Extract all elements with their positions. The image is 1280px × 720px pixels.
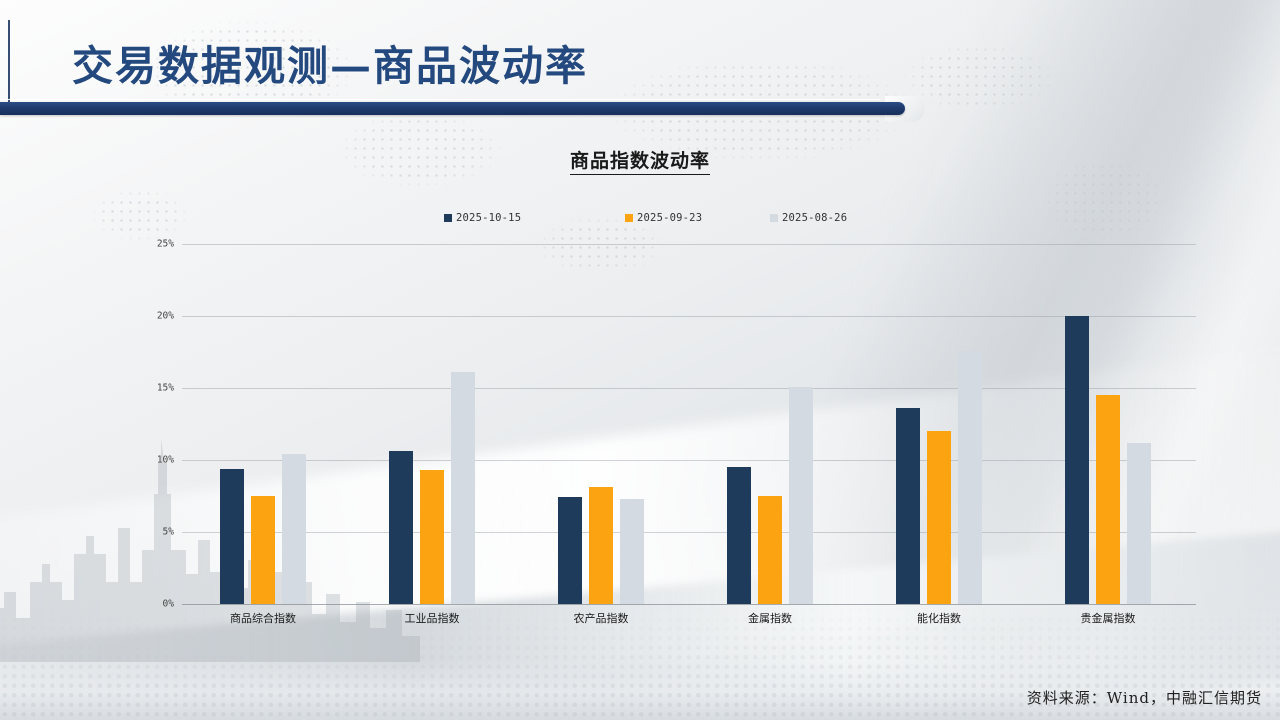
title-hairline xyxy=(0,99,880,100)
page-title: 交易数据观测—商品波动率 xyxy=(72,32,588,92)
legend-label-series-2: 2025-09-23 xyxy=(637,212,702,224)
y-axis-tick-label: 10% xyxy=(157,455,174,466)
bar-1[interactable] xyxy=(896,408,920,604)
bar-2[interactable] xyxy=(420,470,444,604)
bar-2[interactable] xyxy=(251,496,275,604)
chart-axis-baseline xyxy=(182,604,1196,605)
chart-title: 商品指数波动率 xyxy=(0,146,1280,173)
source-note: 资料来源：Wind，中融汇信期货 xyxy=(1027,687,1262,708)
bar-3[interactable] xyxy=(1127,443,1151,604)
legend-swatch-series-3 xyxy=(770,214,778,222)
legend-swatch-series-1 xyxy=(444,214,452,222)
bar-group: 贵金属指数 xyxy=(1065,244,1151,604)
legend-item-series-3[interactable]: 2025-08-26 xyxy=(770,212,847,224)
bar-1[interactable] xyxy=(389,451,413,604)
bar-1[interactable] xyxy=(727,467,751,604)
title-accent-bar xyxy=(0,102,905,115)
bar-1[interactable] xyxy=(220,469,244,604)
bar-2[interactable] xyxy=(1096,395,1120,604)
y-axis-tick-label: 20% xyxy=(157,311,174,322)
legend-label-series-3: 2025-08-26 xyxy=(782,212,847,224)
chart-gridline xyxy=(182,532,1196,533)
x-axis-category-label: 贵金属指数 xyxy=(1023,610,1193,626)
chart-gridline xyxy=(182,460,1196,461)
bar-3[interactable] xyxy=(282,454,306,604)
chart-gridline xyxy=(182,244,1196,245)
x-axis-category-label: 工业品指数 xyxy=(347,610,517,626)
bar-group: 金属指数 xyxy=(727,244,813,604)
bar-3[interactable] xyxy=(958,351,982,604)
chart-plot-area: 0%5%10%15%20%25% 商品综合指数工业品指数农产品指数金属指数能化指… xyxy=(182,244,1196,604)
slide-canvas: 交易数据观测—商品波动率 商品指数波动率 2025-10-15 2025-09-… xyxy=(0,0,1280,720)
chart-gridline xyxy=(182,316,1196,317)
bar-group: 农产品指数 xyxy=(558,244,644,604)
bar-3[interactable] xyxy=(451,372,475,604)
bar-1[interactable] xyxy=(1065,316,1089,604)
legend-item-series-1[interactable]: 2025-10-15 xyxy=(444,212,521,224)
title-left-rule xyxy=(8,20,10,105)
bar-1[interactable] xyxy=(558,497,582,604)
bar-3[interactable] xyxy=(789,387,813,604)
y-axis-tick-label: 25% xyxy=(157,239,174,250)
chart-title-text: 商品指数波动率 xyxy=(570,150,710,175)
x-axis-category-label: 金属指数 xyxy=(685,610,855,626)
bar-3[interactable] xyxy=(620,499,644,604)
legend-item-series-2[interactable]: 2025-09-23 xyxy=(625,212,702,224)
bar-group: 能化指数 xyxy=(896,244,982,604)
bar-group: 商品综合指数 xyxy=(220,244,306,604)
x-axis-category-label: 商品综合指数 xyxy=(178,610,348,626)
y-axis-tick-label: 0% xyxy=(163,599,174,610)
bar-2[interactable] xyxy=(589,487,613,604)
y-axis-tick-label: 15% xyxy=(157,383,174,394)
legend-swatch-series-2 xyxy=(625,214,633,222)
y-axis-tick-label: 5% xyxy=(163,527,174,538)
x-axis-category-label: 农产品指数 xyxy=(516,610,686,626)
chart-gridline xyxy=(182,388,1196,389)
legend-label-series-1: 2025-10-15 xyxy=(456,212,521,224)
commodity-volatility-bar-chart: 商品指数波动率 2025-10-15 2025-09-23 2025-08-26… xyxy=(0,128,1280,648)
bar-group: 工业品指数 xyxy=(389,244,475,604)
bar-2[interactable] xyxy=(927,431,951,604)
chart-legend: 2025-10-15 2025-09-23 2025-08-26 xyxy=(0,212,1280,228)
bar-2[interactable] xyxy=(758,496,782,604)
x-axis-category-label: 能化指数 xyxy=(854,610,1024,626)
